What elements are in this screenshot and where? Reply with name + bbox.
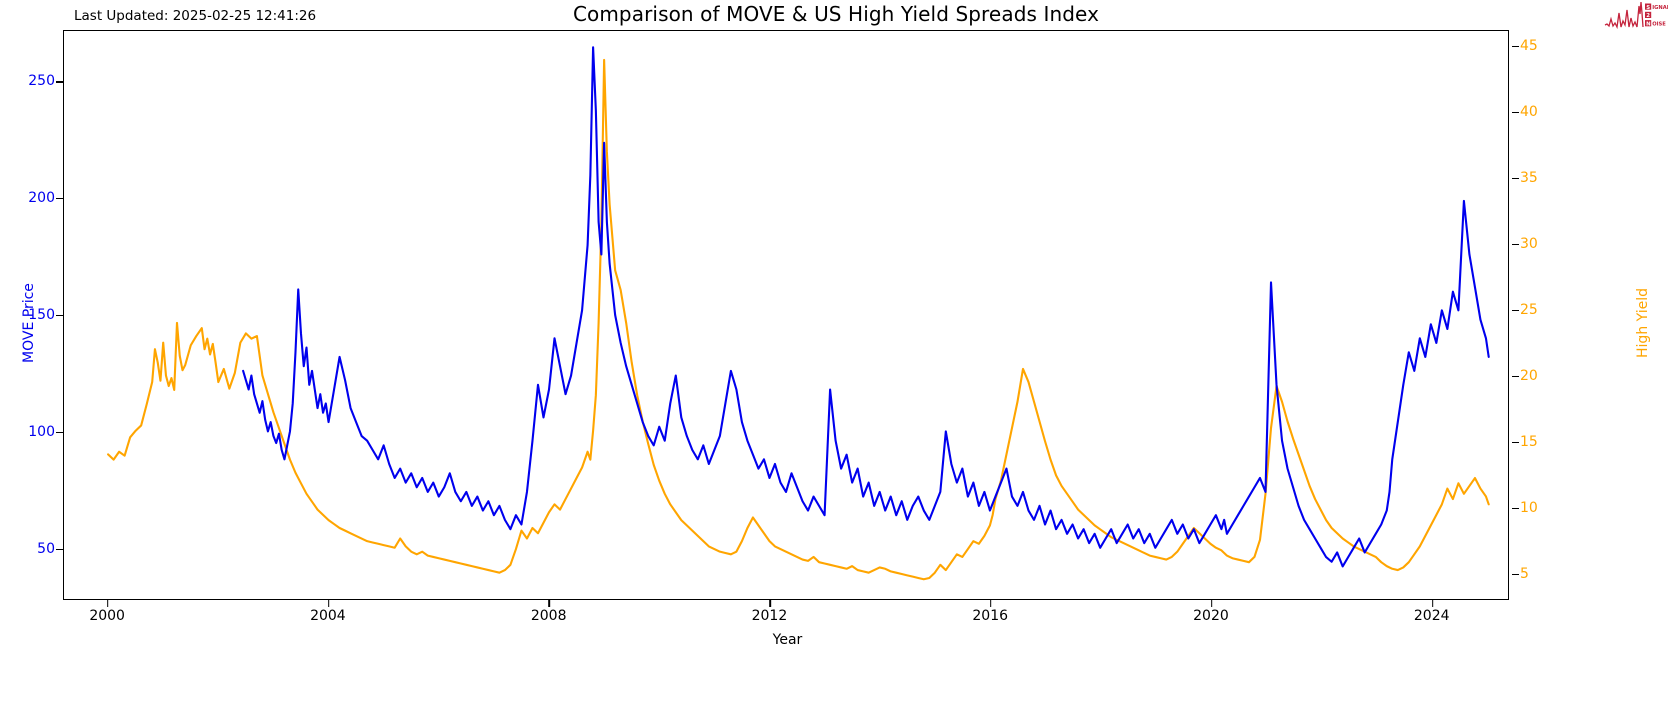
tick-mark bbox=[1512, 46, 1519, 47]
y-axis-right-tick: 30 bbox=[1520, 236, 1538, 252]
svg-text:N: N bbox=[1646, 21, 1651, 27]
plot-area bbox=[63, 30, 1509, 600]
tick-mark bbox=[1512, 112, 1519, 113]
tick-mark bbox=[56, 198, 63, 199]
y-axis-left-tick: 50 bbox=[37, 541, 55, 557]
page-title: Comparison of MOVE & US High Yield Sprea… bbox=[0, 2, 1672, 26]
plot-svg bbox=[64, 31, 1508, 599]
svg-text:OISE: OISE bbox=[1652, 21, 1666, 27]
y-axis-right-tick: 35 bbox=[1520, 170, 1538, 186]
tick-mark bbox=[56, 81, 63, 82]
tick-mark bbox=[549, 600, 550, 607]
y-axis-right-tick: 20 bbox=[1520, 368, 1538, 384]
x-axis-tick: 2016 bbox=[972, 608, 1008, 624]
x-axis-ticks: 2000200420082012201620202024 bbox=[63, 608, 1509, 628]
waveform-icon bbox=[1605, 2, 1643, 27]
y-axis-left-tick: 250 bbox=[28, 73, 55, 89]
x-axis-tick: 2004 bbox=[310, 608, 346, 624]
chart-figure: Last Updated: 2025-02-25 12:41:26 Compar… bbox=[0, 0, 1672, 703]
y-axis-right-ticks: 51015202530354045 bbox=[1520, 30, 1565, 600]
svg-text:2: 2 bbox=[1646, 13, 1650, 19]
x-axis-tick: 2012 bbox=[752, 608, 788, 624]
y-axis-left-tick: 200 bbox=[28, 190, 55, 206]
signal-2-noise-logo: S IGNAL 2 N OISE bbox=[1604, 1, 1668, 31]
tick-mark bbox=[1512, 442, 1519, 443]
y-axis-right-label: High Yield bbox=[1635, 278, 1651, 368]
tick-mark bbox=[107, 600, 108, 607]
tick-mark bbox=[1512, 376, 1519, 377]
x-axis-label: Year bbox=[0, 632, 1575, 648]
tick-mark bbox=[990, 600, 991, 607]
y-axis-right-tick: 40 bbox=[1520, 104, 1538, 120]
series-line-move bbox=[243, 47, 1489, 566]
tick-mark bbox=[1512, 508, 1519, 509]
y-axis-left-tick: 100 bbox=[28, 424, 55, 440]
tick-mark bbox=[1512, 244, 1519, 245]
x-axis-tick: 2000 bbox=[89, 608, 125, 624]
tick-mark bbox=[56, 549, 63, 550]
tick-mark bbox=[1512, 574, 1519, 575]
tick-mark bbox=[1211, 600, 1212, 607]
y-axis-right-tick: 10 bbox=[1520, 500, 1538, 516]
tick-mark bbox=[56, 432, 63, 433]
tick-mark bbox=[769, 600, 770, 607]
y-axis-left-label: MOVE Price bbox=[21, 278, 37, 368]
series-line-high-yield bbox=[108, 60, 1489, 579]
x-axis-tick: 2020 bbox=[1193, 608, 1229, 624]
x-axis-tick: 2024 bbox=[1414, 608, 1450, 624]
tick-mark bbox=[328, 600, 329, 607]
tick-mark bbox=[1512, 310, 1519, 311]
logo-wordmark: S IGNAL 2 N OISE bbox=[1645, 4, 1668, 28]
x-axis-tick: 2008 bbox=[531, 608, 567, 624]
tick-mark bbox=[56, 315, 63, 316]
svg-text:S: S bbox=[1646, 5, 1650, 11]
y-axis-right-tick: 25 bbox=[1520, 302, 1538, 318]
y-axis-right-tick: 45 bbox=[1520, 38, 1538, 54]
y-axis-right-tick: 5 bbox=[1520, 566, 1529, 582]
svg-text:IGNAL: IGNAL bbox=[1652, 5, 1668, 11]
tick-mark bbox=[1432, 600, 1433, 607]
y-axis-right-tick: 15 bbox=[1520, 434, 1538, 450]
tick-mark bbox=[1512, 178, 1519, 179]
